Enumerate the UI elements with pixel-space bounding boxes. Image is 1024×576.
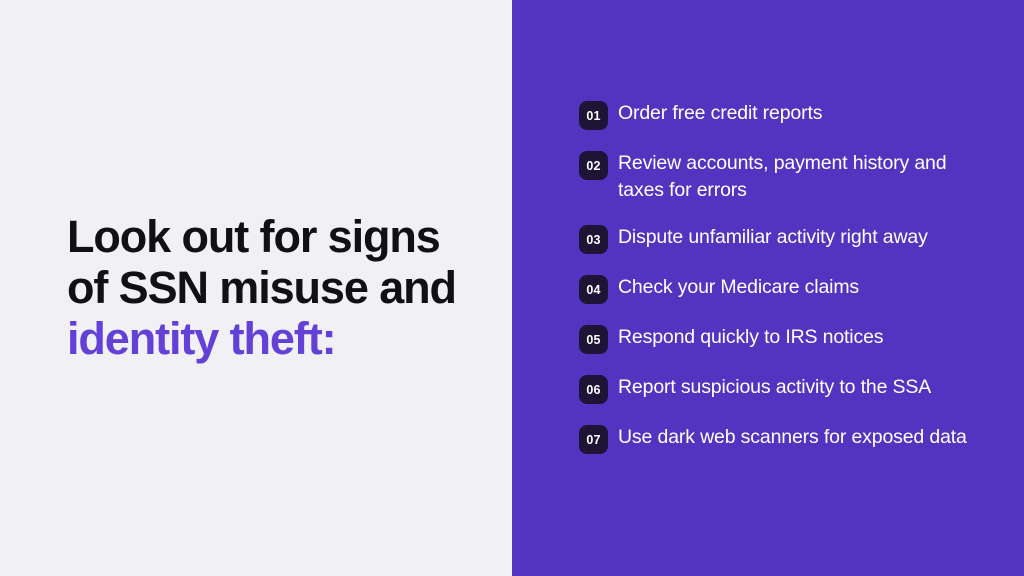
list-item: 03 Dispute unfamiliar activity right awa… [579, 224, 987, 254]
step-number-badge: 02 [579, 151, 608, 180]
headline-line-2: of SSN misuse and [67, 262, 487, 313]
right-panel: 01 Order free credit reports 02 Review a… [512, 0, 1024, 576]
step-number-badge: 01 [579, 101, 608, 130]
list-item: 01 Order free credit reports [579, 100, 987, 130]
step-number-badge: 05 [579, 325, 608, 354]
step-number-badge: 07 [579, 425, 608, 454]
step-label: Review accounts, payment history and tax… [618, 150, 986, 204]
left-panel: Look out for signs of SSN misuse and ide… [0, 0, 512, 576]
step-number-badge: 04 [579, 275, 608, 304]
list-item: 04 Check your Medicare claims [579, 274, 987, 304]
headline-line-1: Look out for signs [67, 211, 487, 262]
step-number-badge: 03 [579, 225, 608, 254]
step-label: Report suspicious activity to the SSA [618, 374, 931, 401]
list-item: 05 Respond quickly to IRS notices [579, 324, 987, 354]
step-label: Check your Medicare claims [618, 274, 859, 301]
step-label: Use dark web scanners for exposed data [618, 424, 967, 451]
headline-line-3-accent: identity theft: [67, 313, 487, 364]
step-label: Dispute unfamiliar activity right away [618, 224, 928, 251]
steps-list: 01 Order free credit reports 02 Review a… [579, 100, 987, 454]
list-item: 06 Report suspicious activity to the SSA [579, 374, 987, 404]
step-label: Order free credit reports [618, 100, 822, 127]
list-item: 07 Use dark web scanners for exposed dat… [579, 424, 987, 454]
step-number-badge: 06 [579, 375, 608, 404]
step-label: Respond quickly to IRS notices [618, 324, 883, 351]
page-title: Look out for signs of SSN misuse and ide… [67, 211, 487, 364]
list-item: 02 Review accounts, payment history and … [579, 150, 987, 204]
slide-root: Look out for signs of SSN misuse and ide… [0, 0, 1024, 576]
